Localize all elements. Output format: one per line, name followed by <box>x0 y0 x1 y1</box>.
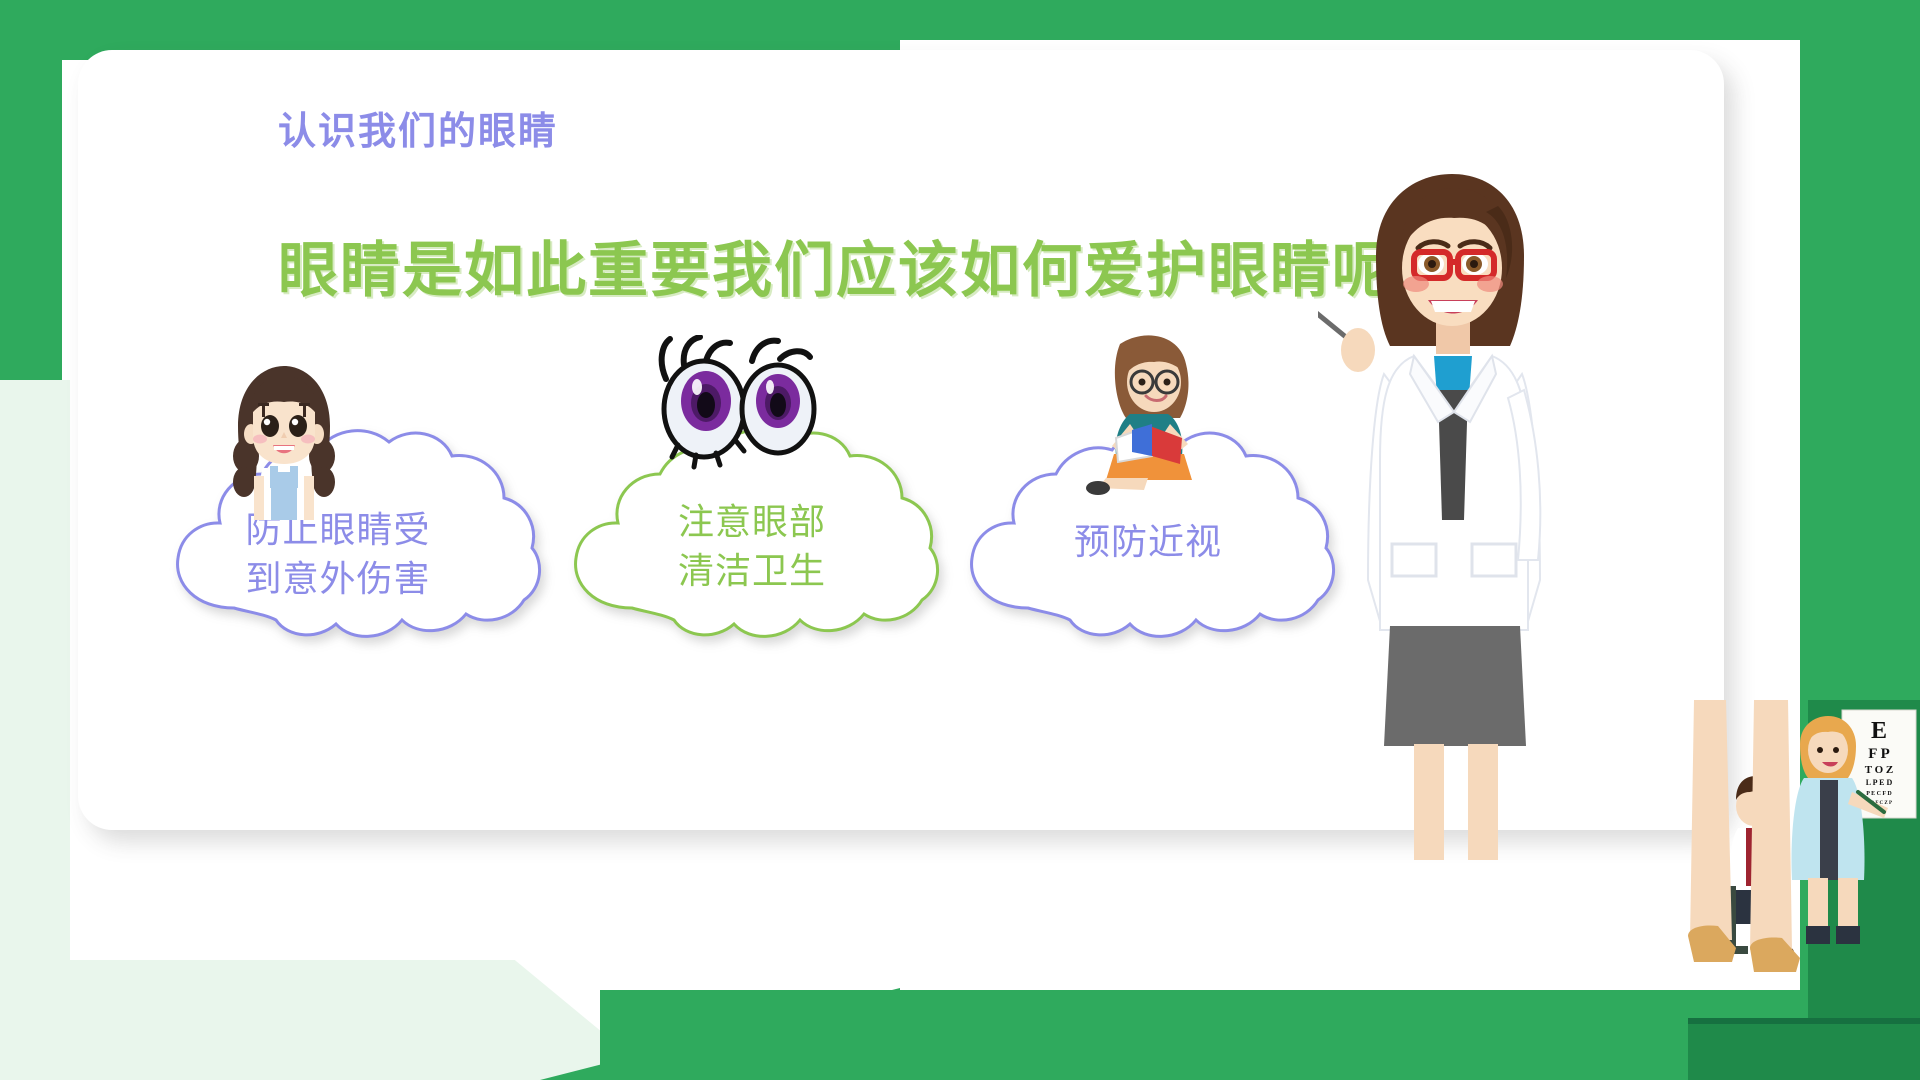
female-doctor-with-pointer-icon <box>1318 160 1568 860</box>
cloud-label: 注意眼部 清洁卫生 <box>602 498 902 595</box>
slide-root: 认识我们的眼睛 眼睛是如此重要我们应该如何爱护眼睛呢? 防止眼睛受 到意外伤害 … <box>0 0 1920 1080</box>
svg-text:T O Z: T O Z <box>1865 764 1894 776</box>
bg-pale-bottom-band <box>0 960 660 1080</box>
page-title: 眼睛是如此重要我们应该如何爱护眼睛呢? <box>278 222 1433 309</box>
svg-text:F P: F P <box>1868 746 1890 762</box>
cloud-label: 预防近视 <box>998 518 1298 567</box>
svg-text:E: E <box>1871 718 1887 744</box>
cartoon-eyes-icon <box>648 335 828 475</box>
svg-text:P E C F D: P E C F D <box>1866 791 1892 797</box>
eye-exam-scene-icon: E F P T O Z L P E D P E C F D E D F C Z … <box>1688 700 1920 1080</box>
girl-with-braids-icon <box>218 360 350 520</box>
cloud-prevent-injury[interactable]: 防止眼睛受 到意外伤害 <box>150 412 550 692</box>
page-kicker: 认识我们的眼睛 <box>278 100 558 155</box>
girl-reading-book-icon <box>1072 330 1232 495</box>
cloud-label: 防止眼睛受 到意外伤害 <box>188 506 488 603</box>
svg-text:L P E D: L P E D <box>1866 778 1893 787</box>
